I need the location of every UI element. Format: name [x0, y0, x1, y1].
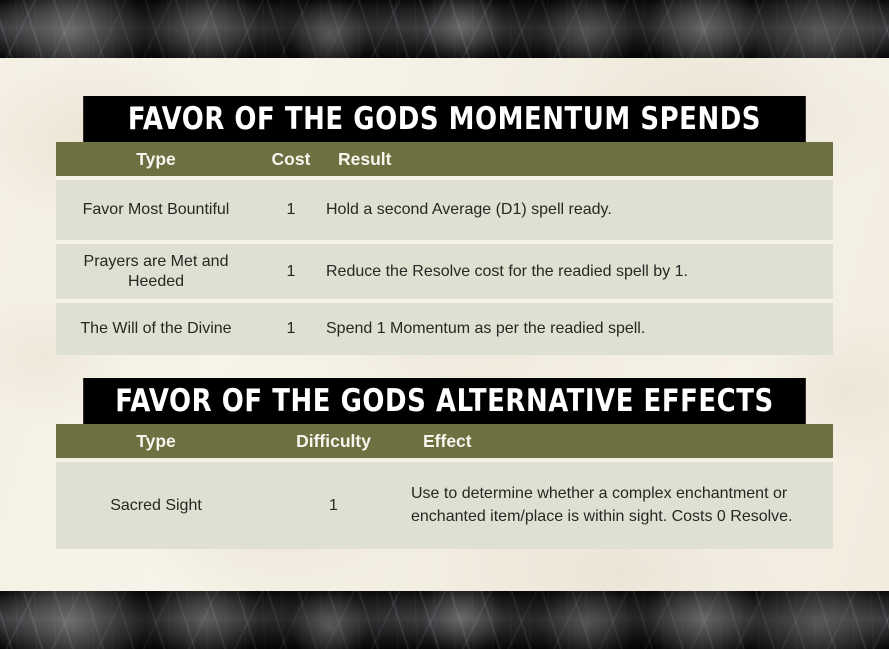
cell-result: Hold a second Average (D1) spell ready. [326, 201, 833, 219]
cell-cost: 1 [256, 201, 326, 219]
table-row: Sacred Sight 1 Use to determine whether … [56, 458, 833, 549]
column-header-type: Type [56, 149, 256, 170]
table-row: The Will of the Divine 1 Spend 1 Momentu… [56, 299, 833, 355]
cell-result: Reduce the Resolve cost for the readied … [326, 263, 833, 281]
alternative-effects-table: FAVOR OF THE GODS ALTERNATIVE EFFECTS Ty… [56, 378, 833, 549]
table-row: Prayers are Met and Heeded 1 Reduce the … [56, 240, 833, 299]
column-header-result: Result [326, 149, 833, 170]
cell-difficulty: 1 [256, 497, 411, 515]
momentum-spends-table: FAVOR OF THE GODS MOMENTUM SPENDS Type C… [56, 96, 833, 355]
alternative-effects-title: FAVOR OF THE GODS ALTERNATIVE EFFECTS [83, 378, 806, 424]
column-header-difficulty: Difficulty [256, 431, 411, 452]
alternative-effects-header-row: Type Difficulty Effect [56, 424, 833, 458]
cell-type: Favor Most Bountiful [56, 200, 256, 220]
cell-cost: 1 [256, 263, 326, 281]
page-root: FAVOR OF THE GODS MOMENTUM SPENDS Type C… [0, 0, 889, 649]
column-header-effect: Effect [411, 431, 833, 452]
cell-cost: 1 [256, 320, 326, 338]
cell-type: Sacred Sight [56, 496, 256, 516]
column-header-cost: Cost [256, 149, 326, 170]
cell-result: Spend 1 Momentum as per the readied spel… [326, 320, 833, 338]
cell-type: The Will of the Divine [56, 319, 256, 339]
stone-border-bottom [0, 591, 889, 649]
momentum-spends-title: FAVOR OF THE GODS MOMENTUM SPENDS [83, 96, 806, 142]
cell-type: Prayers are Met and Heeded [56, 252, 256, 292]
column-header-type: Type [56, 431, 256, 452]
stone-border-top [0, 0, 889, 58]
momentum-spends-header-row: Type Cost Result [56, 142, 833, 176]
table-row: Favor Most Bountiful 1 Hold a second Ave… [56, 176, 833, 240]
cell-effect: Use to determine whether a complex encha… [411, 483, 833, 528]
